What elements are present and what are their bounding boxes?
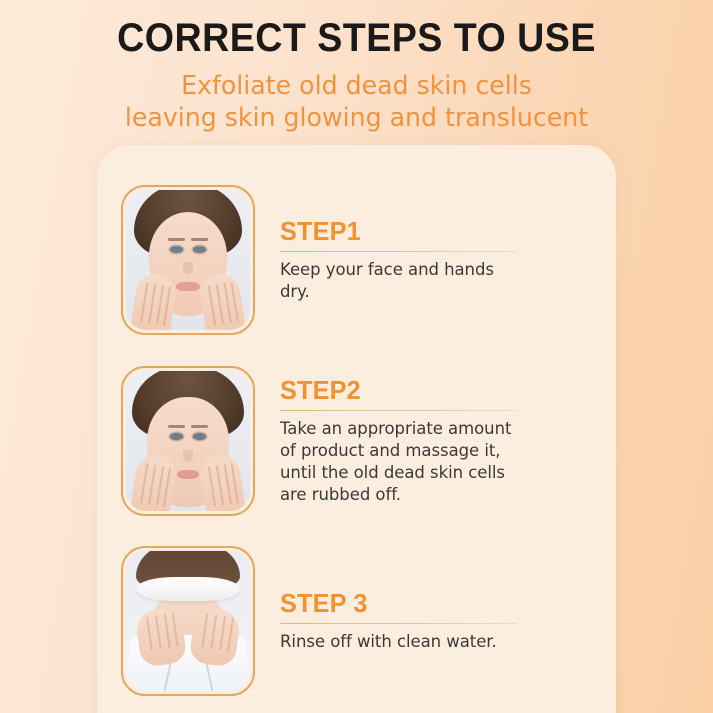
face-photo-icon [126,190,250,330]
step-3-text: STEP 3 Rinse off with clean water. [255,589,592,653]
step-3-desc-line-1: Rinse off with clean water. [280,631,526,653]
step-1-desc-line-1: Keep your face and hands [280,259,526,281]
mouth-shape [176,282,200,291]
infographic-page: CORRECT STEPS TO USE Exfoliate old dead … [0,0,713,713]
step-1-photo-frame [121,185,255,335]
headband-shape [136,577,240,601]
step-3-divider [280,623,517,624]
header: CORRECT STEPS TO USE Exfoliate old dead … [0,0,713,134]
step-1-description: Keep your face and hands dry. [280,259,526,303]
nose-shape [183,262,193,274]
mouth-shape [177,470,199,479]
subtitle-line-2: leaving skin glowing and translucent [11,102,703,134]
step-2-divider [280,410,517,411]
step-2-desc-line-1: Take an appropriate amount [280,418,526,440]
step-2-desc-line-3: until the old dead skin cells [280,462,526,484]
eye-left-shape [170,433,183,440]
step-1-divider [280,251,517,252]
eyebrow-right-shape [191,238,208,241]
step-1-desc-line-2: dry. [280,281,526,303]
eye-right-shape [193,433,206,440]
page-title: CORRECT STEPS TO USE [21,0,691,61]
step-2-desc-line-2: of product and massage it, [280,440,526,462]
step-3-photo-frame [121,546,255,696]
step-3-description: Rinse off with clean water. [280,631,526,653]
steps-list: STEP1 Keep your face and hands dry. [97,145,616,713]
eyebrow-left-shape [168,425,185,428]
eyebrow-right-shape [191,425,208,428]
face-photo-icon [126,371,250,511]
step-item-2: STEP2 Take an appropriate amount of prod… [121,351,592,531]
nose-shape [183,450,193,462]
step-1-heading: STEP1 [280,217,577,246]
step-2-photo-frame [121,366,255,516]
step-item-1: STEP1 Keep your face and hands dry. [121,169,592,351]
step-2-desc-line-4: are rubbed off. [280,484,526,506]
step-2-text: STEP2 Take an appropriate amount of prod… [255,376,592,506]
step-2-description: Take an appropriate amount of product an… [280,418,526,506]
eye-left-shape [170,246,183,253]
page-subtitle: Exfoliate old dead skin cells leaving sk… [11,61,703,134]
face-rinse-photo-icon [126,551,250,691]
step-3-heading: STEP 3 [280,589,577,618]
step-1-text: STEP1 Keep your face and hands dry. [255,217,592,303]
step-item-3: STEP 3 Rinse off with clean water. [121,531,592,711]
step-2-heading: STEP2 [280,376,577,405]
eye-right-shape [193,246,206,253]
steps-card: STEP1 Keep your face and hands dry. [97,145,616,713]
eyebrow-left-shape [168,238,185,241]
subtitle-line-1: Exfoliate old dead skin cells [11,70,703,102]
